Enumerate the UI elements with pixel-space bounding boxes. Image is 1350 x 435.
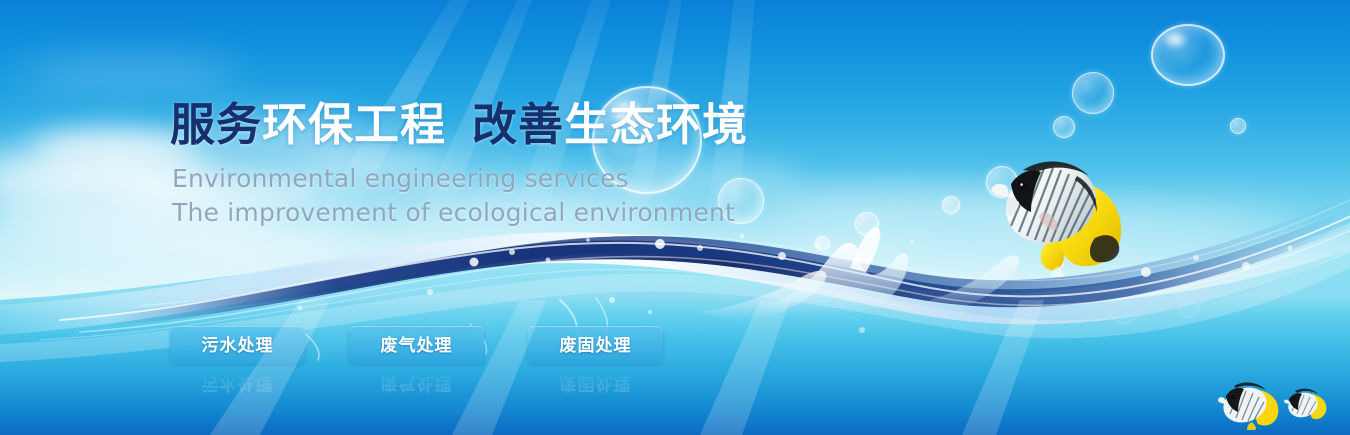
hero-banner: 服务环保工程改善生态环境 Environmental engineering s… <box>0 0 1350 435</box>
button-wrap-waste-gas: 废气处理 废气处理 <box>349 326 484 364</box>
button-solid-waste-treatment[interactable]: 废固处理 <box>528 326 663 364</box>
subtitle: Environmental engineering services The i… <box>172 162 870 230</box>
headline-part2-dark: 改善 <box>472 98 564 151</box>
fish-small-2-icon <box>1284 386 1330 422</box>
headline-part2-light: 生态环境 <box>564 98 748 151</box>
fish-large-icon <box>985 142 1135 277</box>
button-wastewater-treatment[interactable]: 污水处理 <box>170 326 305 364</box>
page-title: 服务环保工程改善生态环境 <box>170 96 870 154</box>
fish-small-1-icon <box>1218 378 1284 430</box>
banner-copy: 服务环保工程改善生态环境 Environmental engineering s… <box>170 96 870 230</box>
subtitle-line-2: The improvement of ecological environmen… <box>172 196 870 230</box>
headline-part1-light: 环保工程 <box>262 98 446 151</box>
service-button-row: 污水处理 污水处理 废气处理 废气处理 废固处理 废固处理 <box>170 326 663 364</box>
button-wrap-solid-waste: 废固处理 废固处理 <box>528 326 663 364</box>
headline-part1-dark: 服务 <box>170 98 262 151</box>
button-waste-gas-reflection: 废气处理 <box>349 366 484 400</box>
button-solid-waste-reflection: 废固处理 <box>528 366 663 400</box>
subtitle-line-1: Environmental engineering services <box>172 162 870 196</box>
underwater-light-icon <box>0 300 1350 435</box>
button-wastewater-reflection: 污水处理 <box>170 366 305 400</box>
button-wrap-wastewater: 污水处理 污水处理 <box>170 326 305 364</box>
button-waste-gas-treatment[interactable]: 废气处理 <box>349 326 484 364</box>
